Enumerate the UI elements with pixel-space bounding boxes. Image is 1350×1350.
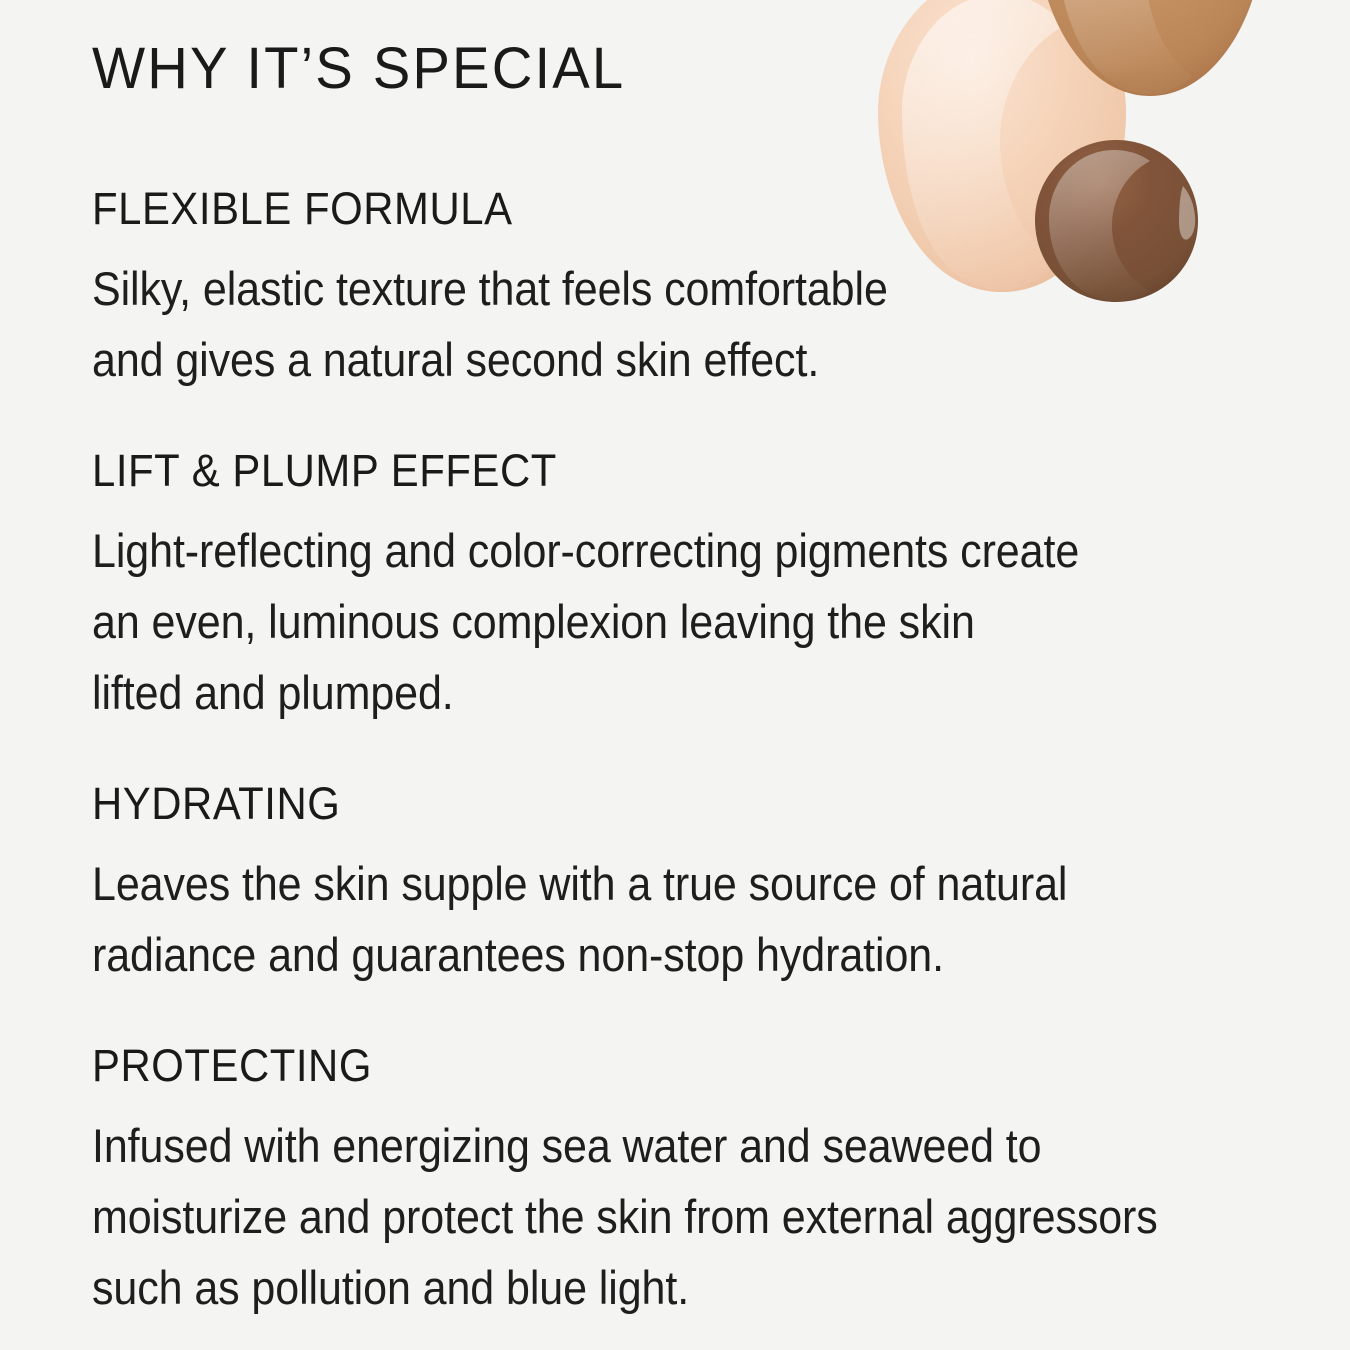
benefit-section-hydrating: HYDRATING Leaves the skin supple with a … xyxy=(92,781,1292,990)
content-column: WHY IT’S SPECIAL FLEXIBLE FORMULA Silky,… xyxy=(92,40,1292,1323)
section-body-protecting: Infused with energizing sea water and se… xyxy=(92,1110,1190,1323)
section-heading-lift-and-plump-effect: LIFT & PLUMP EFFECT xyxy=(92,448,1208,493)
body-line: lifted and plumped. xyxy=(92,657,1190,728)
body-line: Light-reflecting and color-correcting pi… xyxy=(92,515,1190,586)
product-description-panel: WHY IT’S SPECIAL FLEXIBLE FORMULA Silky,… xyxy=(0,0,1350,1350)
section-body-lift-and-plump-effect: Light-reflecting and color-correcting pi… xyxy=(92,515,1190,728)
section-body-flexible-formula: Silky, elastic texture that feels comfor… xyxy=(92,253,1190,395)
benefit-section-flexible-formula: FLEXIBLE FORMULA Silky, elastic texture … xyxy=(92,186,1292,395)
section-heading-hydrating: HYDRATING xyxy=(92,781,1208,826)
body-line: and gives a natural second skin effect. xyxy=(92,324,1190,395)
body-line: moisturize and protect the skin from ext… xyxy=(92,1181,1190,1252)
benefit-section-lift-and-plump-effect: LIFT & PLUMP EFFECT Light-reflecting and… xyxy=(92,448,1292,728)
body-line: such as pollution and blue light. xyxy=(92,1252,1190,1323)
section-body-hydrating: Leaves the skin supple with a true sourc… xyxy=(92,848,1190,990)
body-line: Infused with energizing sea water and se… xyxy=(92,1110,1190,1181)
section-heading-flexible-formula: FLEXIBLE FORMULA xyxy=(92,186,1208,231)
body-line: Silky, elastic texture that feels comfor… xyxy=(92,253,1190,324)
section-heading-protecting: PROTECTING xyxy=(92,1043,1208,1088)
body-line: Leaves the skin supple with a true sourc… xyxy=(92,848,1190,919)
body-line: radiance and guarantees non-stop hydrati… xyxy=(92,919,1190,990)
body-line: an even, luminous complexion leaving the… xyxy=(92,586,1190,657)
benefit-section-protecting: PROTECTING Infused with energizing sea w… xyxy=(92,1043,1292,1323)
page-title: WHY IT’S SPECIAL xyxy=(92,40,1256,98)
benefits-list: FLEXIBLE FORMULA Silky, elastic texture … xyxy=(92,186,1292,1323)
